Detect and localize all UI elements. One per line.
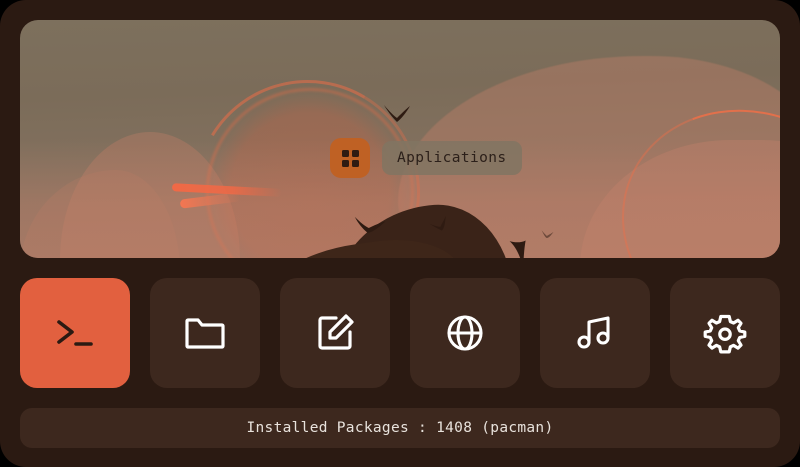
- bird-icon: [382, 104, 412, 130]
- edit-square-icon: [314, 312, 356, 354]
- dock-item-terminal[interactable]: [20, 278, 130, 388]
- dock: [20, 278, 780, 388]
- bird-icon: [428, 215, 453, 237]
- bird-icon: [350, 213, 388, 242]
- dock-item-text-editor[interactable]: [280, 278, 390, 388]
- wallpaper-mountain-left-2: [20, 170, 180, 258]
- wallpaper-streak: [172, 183, 282, 197]
- status-bar: Installed Packages : 1408 (pacman): [20, 408, 780, 448]
- installed-packages-status: Installed Packages : 1408 (pacman): [246, 420, 553, 436]
- desktop-shell: Applications: [0, 0, 800, 467]
- applications-tooltip: Applications: [382, 141, 522, 175]
- applications-grid-button[interactable]: [330, 138, 370, 178]
- wallpaper-panel: Applications: [20, 20, 780, 258]
- wallpaper-mountain-left: [60, 132, 240, 258]
- folder-icon: [183, 313, 227, 353]
- dock-item-music-player[interactable]: [540, 278, 650, 388]
- applications-launcher: Applications: [330, 138, 522, 178]
- wallpaper-arc-right: [586, 72, 780, 258]
- bird-icon: [508, 237, 533, 258]
- wallpaper-streak-2: [180, 192, 241, 208]
- terminal-prompt-icon: [52, 313, 98, 353]
- music-note-icon: [575, 313, 615, 353]
- grid-2x2-icon: [342, 150, 359, 167]
- dock-item-web-browser[interactable]: [410, 278, 520, 388]
- wallpaper-dune-right-2: [580, 140, 780, 258]
- dock-item-files[interactable]: [150, 278, 260, 388]
- gear-icon: [703, 311, 747, 355]
- globe-icon: [444, 312, 486, 354]
- dock-item-settings[interactable]: [670, 278, 780, 388]
- bird-icon: [539, 229, 554, 241]
